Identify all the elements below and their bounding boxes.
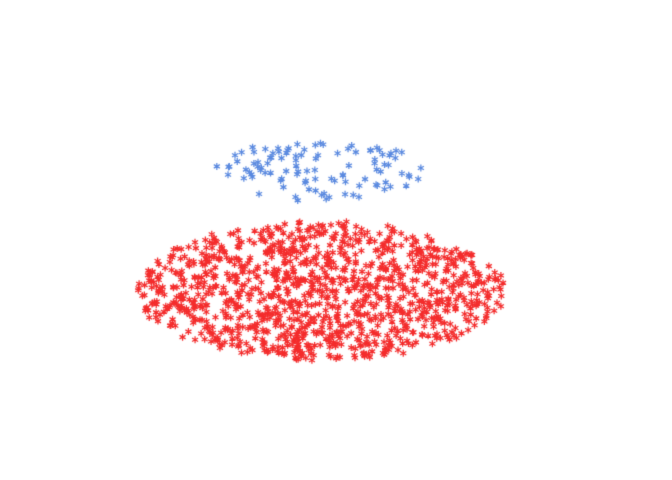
plot-axes-area	[0, 0, 672, 480]
figure-canvas: disk source -> detector	[0, 0, 672, 480]
scatter-plot	[0, 0, 672, 480]
